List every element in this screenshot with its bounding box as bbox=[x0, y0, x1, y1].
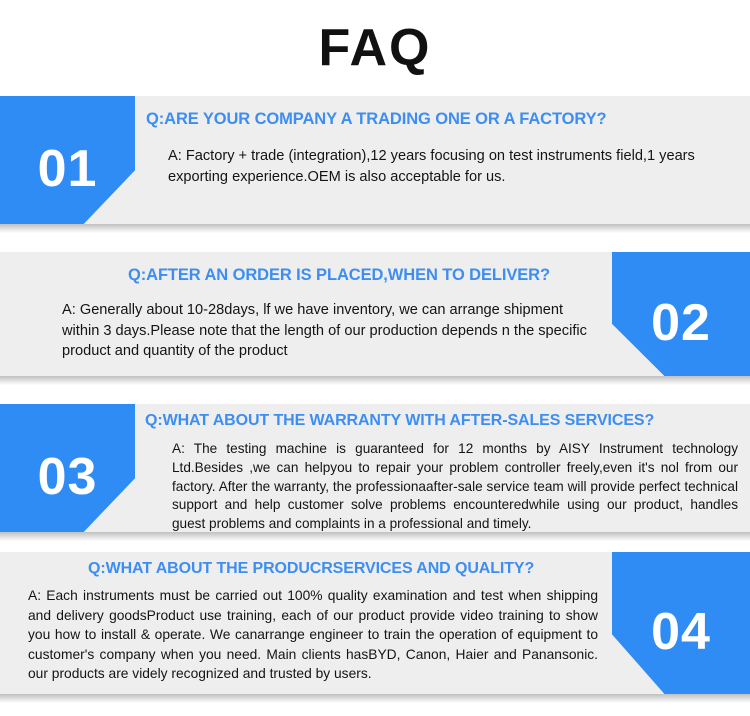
faq-number-badge-03: 03 bbox=[0, 404, 135, 532]
faq-answer-02: A: Generally about 10-28days, lf we have… bbox=[62, 300, 592, 362]
faq-answer-04: A: Each instruments must be carried out … bbox=[28, 586, 598, 684]
faq-number-label: 03 bbox=[38, 447, 98, 507]
faq-number-badge-02: 02 bbox=[612, 252, 750, 376]
faq-item-02: 02 Q:AFTER AN ORDER IS PLACED,WHEN TO DE… bbox=[0, 252, 750, 376]
faq-number-label: 02 bbox=[651, 293, 711, 353]
faq-question-02: Q:AFTER AN ORDER IS PLACED,WHEN TO DELIV… bbox=[128, 266, 550, 285]
faq-item-04: 04 Q:WHAT ABOUT THE PRODUCRSERVICES AND … bbox=[0, 552, 750, 694]
faq-number-badge-04: 04 bbox=[612, 552, 750, 694]
faq-item-01: 01 Q:ARE YOUR COMPANY A TRADING ONE OR A… bbox=[0, 96, 750, 224]
faq-page: FAQ 01 Q:ARE YOUR COMPANY A TRADING ONE … bbox=[0, 0, 750, 716]
faq-answer-03: A: The testing machine is guaranteed for… bbox=[172, 440, 738, 534]
faq-answer-01: A: Factory + trade (integration),12 year… bbox=[168, 146, 728, 187]
faq-number-label: 01 bbox=[38, 139, 98, 199]
page-title: FAQ bbox=[0, 22, 750, 74]
faq-question-04: Q:WHAT ABOUT THE PRODUCRSERVICES AND QUA… bbox=[88, 560, 534, 578]
faq-item-03: 03 Q:WHAT ABOUT THE WARRANTY WITH AFTER-… bbox=[0, 404, 750, 532]
faq-question-03: Q:WHAT ABOUT THE WARRANTY WITH AFTER-SAL… bbox=[145, 412, 654, 430]
panel-shadow bbox=[0, 694, 750, 703]
faq-number-badge-01: 01 bbox=[0, 96, 135, 224]
panel-shadow bbox=[0, 376, 750, 385]
faq-question-01: Q:ARE YOUR COMPANY A TRADING ONE OR A FA… bbox=[146, 110, 606, 129]
faq-number-label: 04 bbox=[651, 602, 711, 662]
panel-shadow bbox=[0, 224, 750, 233]
